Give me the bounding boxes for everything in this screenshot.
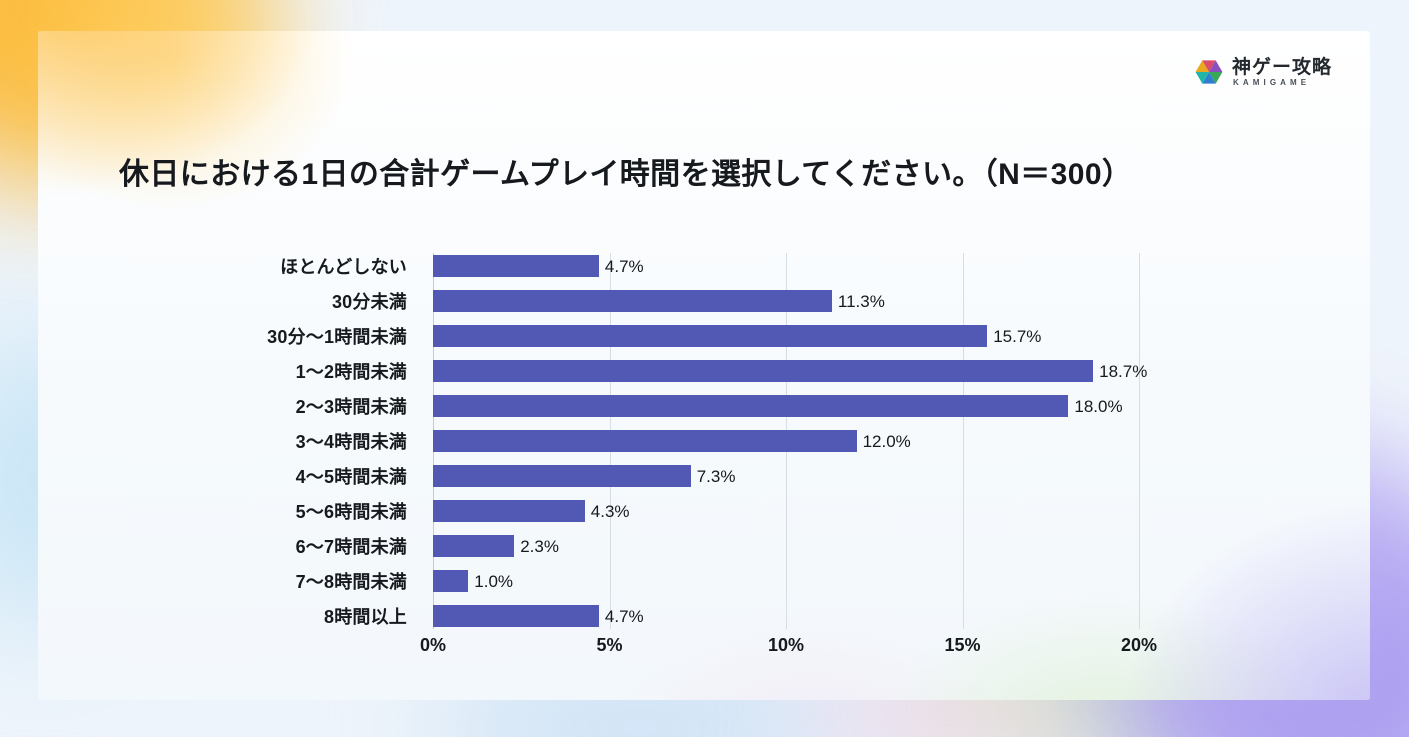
brand-name: 神ゲー攻略 xyxy=(1232,58,1332,78)
bar-row: 4.7% xyxy=(433,255,644,277)
page-title: 休日における1日の合計ゲームプレイ時間を選択してください。（N＝300） xyxy=(119,149,1132,193)
bar-row: 18.0% xyxy=(433,395,1123,417)
bar-row: 11.3% xyxy=(433,290,885,312)
x-axis-tick-label: 15% xyxy=(944,635,980,656)
category-label: 2〜3時間未満 xyxy=(296,395,407,417)
bar-row: 18.7% xyxy=(433,360,1147,382)
bar xyxy=(433,360,1093,382)
bar xyxy=(433,605,599,627)
bar-value-label: 15.7% xyxy=(993,328,1041,345)
bar xyxy=(433,290,832,312)
bar-value-label: 18.0% xyxy=(1074,398,1122,415)
bar xyxy=(433,255,599,277)
category-label: ほとんどしない xyxy=(280,255,407,277)
bar-row: 4.7% xyxy=(433,605,644,627)
brand-logo-text: 神ゲー攻略 KAMIGAME xyxy=(1232,58,1332,87)
gridline xyxy=(963,253,964,629)
bar xyxy=(433,430,857,452)
bar-row: 2.3% xyxy=(433,535,559,557)
category-label: 1〜2時間未満 xyxy=(296,360,407,382)
bar-value-label: 2.3% xyxy=(520,538,559,555)
brand-subtitle: KAMIGAME xyxy=(1232,79,1332,87)
bar-row: 15.7% xyxy=(433,325,1041,347)
bar-value-label: 11.3% xyxy=(838,293,885,310)
category-axis-labels: ほとんどしない30分未満30分〜1時間未満1〜2時間未満2〜3時間未満3〜4時間… xyxy=(38,221,423,641)
bar-value-label: 4.3% xyxy=(591,503,630,520)
bar xyxy=(433,570,468,592)
bar xyxy=(433,325,987,347)
gridline xyxy=(1139,253,1140,629)
card-content: 神ゲー攻略 KAMIGAME 休日における1日の合計ゲームプレイ時間を選択してく… xyxy=(38,31,1370,700)
bar xyxy=(433,500,585,522)
bar xyxy=(433,465,691,487)
category-label: 3〜4時間未満 xyxy=(296,430,407,452)
x-axis-tick-label: 0% xyxy=(420,635,446,656)
kamigame-hexagon-icon xyxy=(1195,58,1223,86)
bar-value-label: 4.7% xyxy=(605,608,644,625)
bar-row: 1.0% xyxy=(433,570,513,592)
category-label: 30分未満 xyxy=(332,290,407,312)
bar xyxy=(433,395,1068,417)
chart-card: 神ゲー攻略 KAMIGAME 休日における1日の合計ゲームプレイ時間を選択してく… xyxy=(38,31,1370,700)
category-label: 5〜6時間未満 xyxy=(296,500,407,522)
bar-value-label: 1.0% xyxy=(474,573,513,590)
slide-root: 神ゲー攻略 KAMIGAME 休日における1日の合計ゲームプレイ時間を選択してく… xyxy=(0,0,1409,737)
category-label: 6〜7時間未満 xyxy=(296,535,407,557)
bar-value-label: 7.3% xyxy=(697,468,736,485)
bar-value-label: 18.7% xyxy=(1099,363,1147,380)
bar-row: 4.3% xyxy=(433,500,630,522)
bar xyxy=(433,535,514,557)
bar-row: 7.3% xyxy=(433,465,735,487)
x-axis-tick-label: 10% xyxy=(768,635,804,656)
bar-chart: ほとんどしない30分未満30分〜1時間未満1〜2時間未満2〜3時間未満3〜4時間… xyxy=(38,221,1370,641)
x-axis-tick-label: 20% xyxy=(1121,635,1157,656)
bar-value-label: 12.0% xyxy=(863,433,911,450)
category-label: 4〜5時間未満 xyxy=(296,465,407,487)
x-axis-tick-label: 5% xyxy=(596,635,622,656)
bar-value-label: 4.7% xyxy=(605,258,644,275)
plot-area: 0%5%10%15%20%4.7%11.3%15.7%18.7%18.0%12.… xyxy=(433,253,1139,629)
category-label: 30分〜1時間未満 xyxy=(267,325,407,347)
bar-row: 12.0% xyxy=(433,430,911,452)
category-label: 8時間以上 xyxy=(324,605,407,627)
category-label: 7〜8時間未満 xyxy=(296,570,407,592)
brand-logo[interactable]: 神ゲー攻略 KAMIGAME xyxy=(1195,58,1332,87)
